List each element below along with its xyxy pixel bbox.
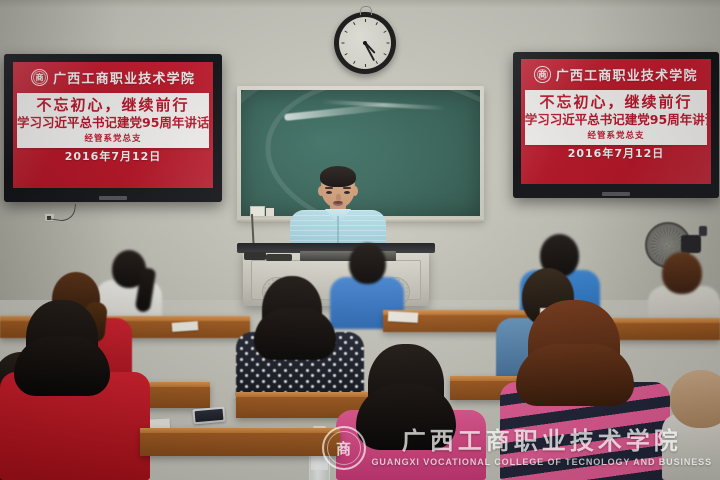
- speaker-ear: [318, 186, 324, 196]
- school-logo-icon: 商: [31, 69, 48, 86]
- classroom-photo: 商 广西工商职业技术学院 不忘初心，继续前行 学习习近平总书记建党95周年讲话精…: [0, 0, 720, 480]
- audience-head: [662, 252, 702, 294]
- presentation-slide-left: 商 广西工商职业技术学院 不忘初心，继续前行 学习习近平总书记建党95周年讲话精…: [13, 62, 213, 188]
- speaker-eye: [326, 191, 332, 194]
- clock-center-cap: [363, 41, 367, 45]
- display-screen-right[interactable]: 商 广西工商职业技术学院 不忘初心，继续前行 学习习近平总书记建党95周年讲话精…: [513, 52, 719, 198]
- tv-screen-left: 商 广西工商职业技术学院 不忘初心，继续前行 学习习近平总书记建党95周年讲话精…: [13, 62, 213, 188]
- slide-headline: 不忘初心，继续前行: [17, 96, 209, 115]
- tv-screen-right: 商 广西工商职业技术学院 不忘初心，继续前行 学习习近平总书记建党95周年讲话精…: [521, 59, 711, 184]
- slide-organizer: 经管系党总支: [525, 129, 707, 141]
- desk-row-front: [140, 428, 340, 456]
- slide-date: 2016年7月12日: [568, 145, 665, 161]
- clock-face: [339, 17, 391, 69]
- slide-school-name: 广西工商职业技术学院: [556, 65, 698, 84]
- audience-head: [670, 370, 720, 428]
- slide-subline: 学习习近平总书记建党95周年讲话精神: [525, 112, 707, 128]
- logo-char: 商: [538, 71, 546, 79]
- slide-date: 2016年7月12日: [65, 148, 162, 164]
- chalk-box: [266, 208, 274, 216]
- fan-mount-arm: [699, 226, 707, 236]
- slide-headline: 不忘初心，继续前行: [525, 93, 707, 112]
- display-screen-left[interactable]: 商 广西工商职业技术学院 不忘初心，继续前行 学习习近平总书记建党95周年讲话精…: [4, 54, 222, 202]
- audience-hair-fall: [516, 344, 634, 406]
- slide-school-name: 广西工商职业技术学院: [53, 68, 195, 87]
- slide-subline: 学习习近平总书记建党95周年讲话精神: [17, 115, 209, 131]
- speaker-nose: [336, 194, 341, 201]
- slide-header-right: 商 广西工商职业技术学院: [521, 59, 711, 90]
- logo-char: 商: [35, 74, 43, 82]
- audience-hair-fall: [254, 308, 336, 360]
- speaker-hair: [320, 166, 356, 187]
- audience-hair-fall: [356, 384, 456, 450]
- speaker-mouth: [333, 201, 343, 206]
- paper-sheet: [172, 321, 199, 332]
- speaker-eye: [344, 191, 350, 194]
- microphone-base: [244, 252, 266, 260]
- speaker-eyebrow: [343, 187, 351, 189]
- slide-header-left: 商 广西工商职业技术学院: [13, 62, 213, 93]
- speaker-eyebrow: [325, 187, 333, 189]
- audience-person-a10: [336, 344, 486, 480]
- audio-equipment: [266, 254, 292, 261]
- tv-brand-mark-right: [602, 192, 630, 196]
- slide-text-block-right: 不忘初心，继续前行 学习习近平总书记建党95周年讲话精神 经管系党总支: [525, 90, 707, 145]
- clock-hook: [360, 6, 372, 15]
- audience-person-a-right-edge: [662, 370, 720, 480]
- presentation-slide-right: 商 广西工商职业技术学院 不忘初心，继续前行 学习习近平总书记建党95周年讲话精…: [521, 59, 711, 184]
- paper-sheet: [388, 311, 418, 323]
- speaker-ear: [352, 186, 358, 196]
- tv-brand-mark-left: [99, 196, 127, 200]
- smartphone-on-desk: [192, 407, 225, 425]
- wall-clock-icon: [334, 12, 396, 74]
- audience-hair-fall: [14, 336, 110, 396]
- desk-front: [140, 433, 340, 456]
- fan-motor: [681, 235, 701, 253]
- audience-person-a9: [500, 300, 670, 480]
- slide-text-block-left: 不忘初心，继续前行 学习习近平总书记建党95周年讲话精神 经管系党总支: [17, 93, 209, 148]
- slide-organizer: 经管系党总支: [17, 132, 209, 144]
- audience-person-a1: [0, 300, 150, 480]
- school-logo-icon: 商: [534, 66, 550, 82]
